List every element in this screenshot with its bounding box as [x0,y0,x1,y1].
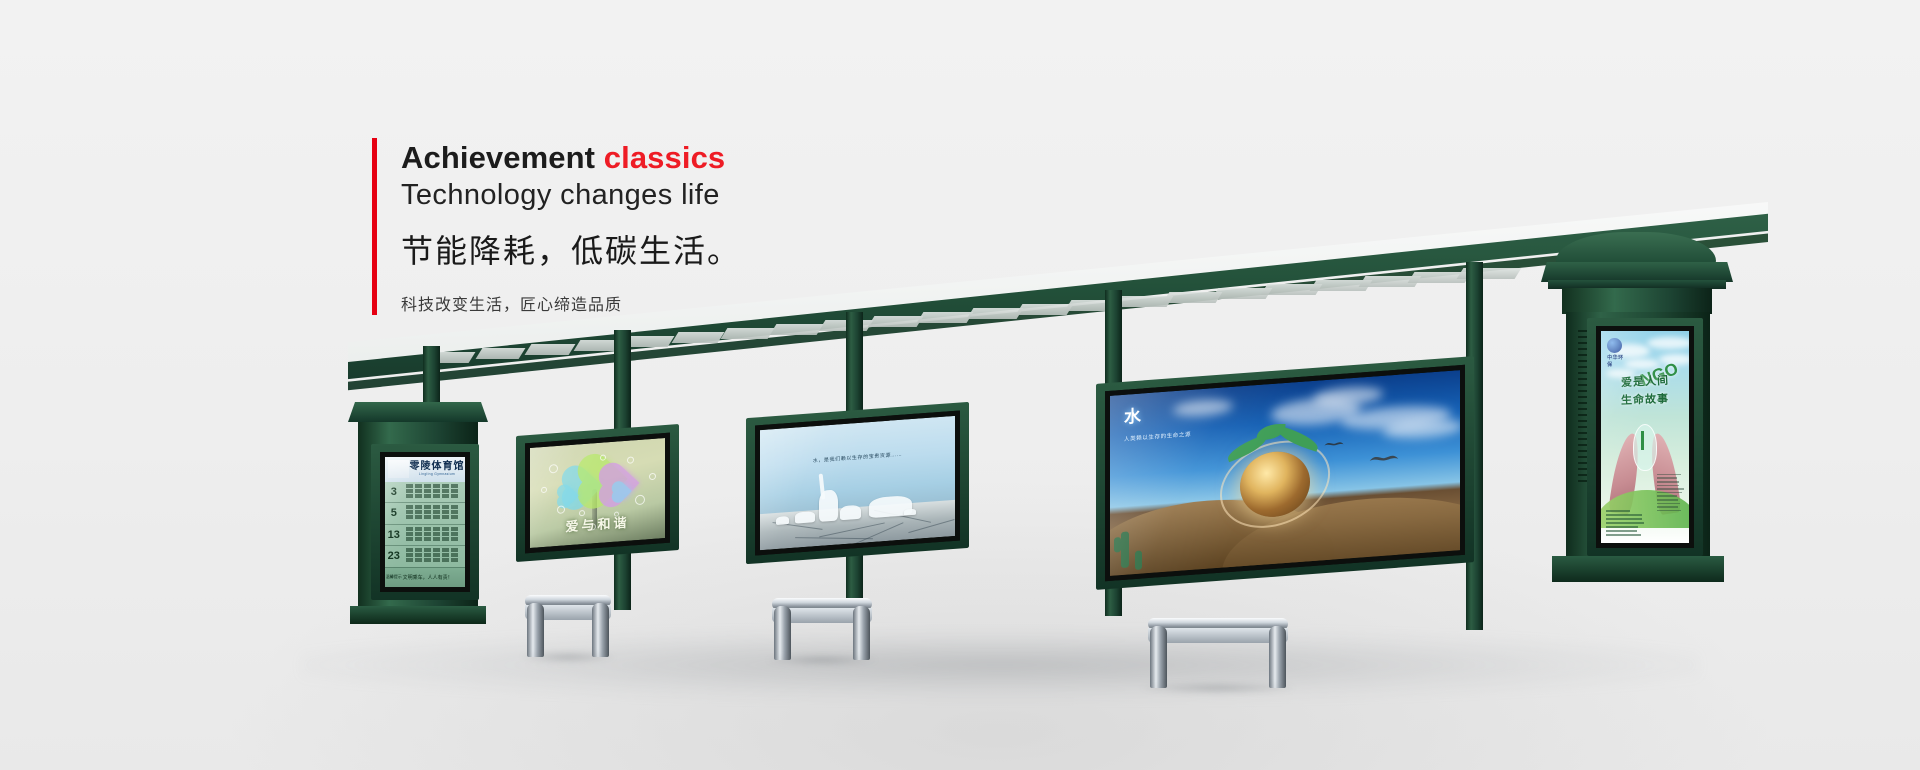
route-stop [451,484,458,488]
sprout-leaf-top [1256,424,1285,440]
text-line [1657,474,1680,476]
poster-heart-tree[interactable]: 爱与和谐 [525,433,670,554]
route-stop [442,537,449,541]
tower-eco-artwork: 中华环保 NGO 爱是人间 生命故事 [1601,331,1689,543]
route-stop [424,484,431,488]
text-line [1606,534,1641,536]
route-board-header: 零陵体育馆 Lingling Gymnasium [385,457,465,482]
vent-slot [1578,396,1587,398]
route-number: 23 [385,546,403,566]
vent-slot [1578,330,1587,332]
tower-neck [1562,288,1712,314]
route-stop [415,537,422,541]
poster-tower-eco[interactable]: 中华环保 NGO 爱是人间 生命故事 [1596,326,1694,548]
bench-leg-left [774,606,791,660]
eagle-icon-2 [1369,452,1399,465]
animals-caption: 水，是我们赖以生存的宝贵资源…… [760,447,955,468]
bubble-shape [557,505,565,514]
text-line [1606,526,1638,528]
poster-inner: 水，是我们赖以生存的宝贵资源…… [755,410,960,555]
route-stop [451,515,458,519]
route-stop-list [403,546,465,566]
bubble-shape [627,456,634,464]
headline-en-primary: Achievement classics [401,140,741,177]
route-stop [442,558,449,562]
route-row: 23 [385,546,465,567]
red-accent-rule [372,138,377,315]
vent-slot [1578,366,1587,368]
water-title: 水 [1124,408,1141,426]
headline-block: Achievement classics Technology changes … [372,138,741,315]
vent-slot [1578,402,1587,404]
route-stop [424,558,431,562]
route-stop-list [403,503,465,523]
eco-logo: 中华环保 [1607,338,1626,368]
route-number: 3 [385,482,403,502]
route-stop [433,553,440,557]
route-stop [424,553,431,557]
text-line [1606,514,1642,516]
vent-slot [1578,456,1587,458]
route-stop [424,527,431,531]
route-stop [406,537,413,541]
route-board-artwork: 零陵体育馆 Lingling Gymnasium 351323 温馨提示 文明乘… [385,457,465,587]
bubble-shape [541,487,547,493]
vent-slot [1578,414,1587,416]
route-board-logo-block [388,460,409,478]
bench-leg-left [527,603,544,657]
bench-shadow [1140,682,1297,694]
route-stop [442,484,449,488]
bench-shadow [520,651,616,663]
animal-lion [795,511,815,523]
animal-giraffe-neck [819,473,826,500]
water-sprout-artwork: 水 人类赖以生存的生命之源 [1110,370,1460,576]
poster-inner: 水 人类赖以生存的生命之源 [1105,365,1465,581]
route-stop-list [403,482,465,502]
bench-shadow [766,654,878,666]
vent-slot [1578,360,1587,362]
route-stop [442,553,449,557]
poster-inner: 零陵体育馆 Lingling Gymnasium 351323 温馨提示 文明乘… [380,452,470,592]
roof-rib [770,324,824,335]
station-name-en: Lingling Gymnasium [409,472,465,476]
vent-slot [1578,342,1587,344]
poster-route-board[interactable]: 零陵体育馆 Lingling Gymnasium 351323 温馨提示 文明乘… [380,452,470,592]
route-stop [433,527,440,531]
route-stop [433,548,440,552]
cactus-arm [1114,537,1121,552]
eco-headline-1: 爱是人间 [1601,371,1690,392]
route-stop [451,532,458,536]
animal-calf [904,509,916,516]
bench-leg-right [853,606,870,660]
roof-rib [525,344,575,355]
eco-fineprint-block [1606,510,1645,538]
route-stop [451,510,458,514]
route-stop [415,484,422,488]
roof-rib [476,348,526,359]
route-stop [433,510,440,514]
route-stop [451,505,458,509]
text-line [1657,477,1676,479]
text-line [1606,518,1641,520]
vent-slot [1578,450,1587,452]
route-stop [406,489,413,493]
route-stop [406,553,413,557]
headline-cn-secondary: 科技改变生活，匠心缔造品质 [401,291,741,315]
route-stop [415,489,422,493]
cactus-main [1121,531,1129,568]
animal-zebra [776,516,790,525]
route-stop [424,494,431,498]
route-row: 3 [385,482,465,503]
tower-base [1552,556,1724,582]
route-stop [424,532,431,536]
sprout-shape [1641,431,1645,450]
bubble-shape [649,473,656,481]
text-line [1657,503,1680,505]
route-stop [442,494,449,498]
vent-slot [1578,444,1587,446]
vent-slot [1578,420,1587,422]
route-stop [451,558,458,562]
vent-slot [1578,348,1587,350]
heart-tree-caption: 爱与和谐 [530,509,665,538]
roof-rib [721,328,774,339]
route-stop [442,505,449,509]
bench-leg-left [1150,626,1167,688]
animals-artwork: 水，是我们赖以生存的宝贵资源…… [760,416,955,550]
vent-slot [1578,372,1587,374]
route-stop [442,548,449,552]
route-stop [424,537,431,541]
tower-eave [1541,262,1733,282]
route-number: 5 [385,503,403,523]
vent-slot [1578,336,1587,338]
vent-slot [1578,462,1587,464]
vent-slot [1578,354,1587,356]
route-stop [415,548,422,552]
text-line [1657,492,1681,494]
cloud-shape [1647,337,1693,349]
water-subtitle: 人类赖以生存的生命之源 [1124,429,1191,442]
route-stop [433,558,440,562]
route-stop [433,505,440,509]
headline-lines: Achievement classics Technology changes … [401,138,741,315]
roof-rib [672,332,725,343]
route-stop [406,494,413,498]
vent-slot [1578,378,1587,380]
route-stop [406,527,413,531]
eagle-icon-1 [1324,440,1344,448]
eco-logo-icon [1607,338,1622,353]
cloud-shape [1313,385,1383,408]
text-line [1606,522,1644,524]
vent-slot [1578,480,1587,482]
station-name-cn: 零陵体育馆 [409,462,465,472]
route-stop [415,494,422,498]
route-stop [415,527,422,531]
vent-slot [1578,468,1587,470]
poster-water-sprout[interactable]: 水 人类赖以生存的生命之源 [1105,365,1465,581]
vent-slot [1578,438,1587,440]
eco-body-text-block [1657,474,1683,514]
vent-slot [1578,474,1587,476]
water-drop-shape [1633,424,1658,471]
route-stop [433,484,440,488]
bench-leg-right [1269,626,1286,688]
route-stop [415,558,422,562]
route-stop-list [403,525,465,545]
route-stop [424,510,431,514]
route-footer-message: 文明乘车，人人有责！ [403,574,465,581]
eco-headline-2: 生命故事 [1601,390,1690,409]
route-board-kiosk-base [350,606,486,624]
route-stop [406,505,413,509]
route-stop [442,532,449,536]
heart-tree-artwork: 爱与和谐 [530,438,665,548]
route-stop [415,532,422,536]
ground-shadow [300,630,1700,700]
vent-slot [1578,390,1587,392]
route-stop [451,537,458,541]
route-number: 13 [385,525,403,545]
route-stop [451,494,458,498]
route-stop [406,558,413,562]
roof-rib [966,308,1023,319]
text-line [1657,481,1678,483]
cactus-small [1135,550,1142,570]
route-stop [451,548,458,552]
bench-slats [1148,628,1288,643]
route-stop [406,484,413,488]
headline-en-accent: classics [604,140,725,175]
route-stop [406,548,413,552]
text-line [1657,506,1678,508]
poster-animals[interactable]: 水，是我们赖以生存的宝贵资源…… [755,410,960,555]
bubble-shape [549,464,558,474]
route-stop [451,489,458,493]
text-line [1657,495,1676,497]
route-stop [415,553,422,557]
route-stop [415,505,422,509]
vent-slot [1578,408,1587,410]
route-stop [433,515,440,519]
shelter-scene: 零陵体育馆 Lingling Gymnasium 351323 温馨提示 文明乘… [0,0,1920,770]
tower-vent-slots [1578,330,1587,486]
text-line [1657,485,1679,487]
poster-inner: 爱与和谐 [525,433,670,554]
route-board-kiosk-cap [348,402,488,422]
route-stop [451,553,458,557]
vent-slot [1578,426,1587,428]
route-stop [442,527,449,531]
route-stop [424,505,431,509]
headline-en-secondary: Technology changes life [401,177,741,215]
route-stop [406,515,413,519]
route-footer-tag: 温馨提示 [385,574,403,580]
cloud-shape [1173,398,1233,418]
route-board-footer: 温馨提示 文明乘车，人人有责！ [385,567,465,587]
route-stop [442,510,449,514]
route-stop [442,489,449,493]
route-stop [415,515,422,519]
route-stop [406,510,413,514]
route-row-list: 351323 [385,482,465,568]
bubble-shape [635,494,645,505]
text-line [1606,510,1629,512]
roof-rib [917,312,973,323]
route-stop [433,489,440,493]
route-stop [442,515,449,519]
text-line [1606,530,1637,532]
headline-cn-primary: 节能降耗，低碳生活。 [401,230,741,273]
route-stop [451,527,458,531]
headline-en-plain: Achievement [401,140,604,175]
route-stop [424,489,431,493]
route-board-title: 零陵体育馆 Lingling Gymnasium [409,462,465,476]
eco-logo-label: 中华环保 [1607,354,1626,368]
text-line [1657,510,1681,512]
route-row: 13 [385,525,465,546]
route-stop [415,510,422,514]
route-row: 5 [385,503,465,524]
vent-slot [1578,432,1587,434]
animal-camel [840,504,861,520]
route-stop [433,537,440,541]
bench-leg-right [592,603,609,657]
route-stop [433,494,440,498]
vent-slot [1578,384,1587,386]
route-stop [424,548,431,552]
poster-inner: 中华环保 NGO 爱是人间 生命故事 [1596,326,1694,548]
route-stop [406,532,413,536]
roof-rib [868,316,924,327]
text-line [1657,499,1677,501]
route-stop [424,515,431,519]
route-stop [433,532,440,536]
text-line [1657,488,1683,490]
